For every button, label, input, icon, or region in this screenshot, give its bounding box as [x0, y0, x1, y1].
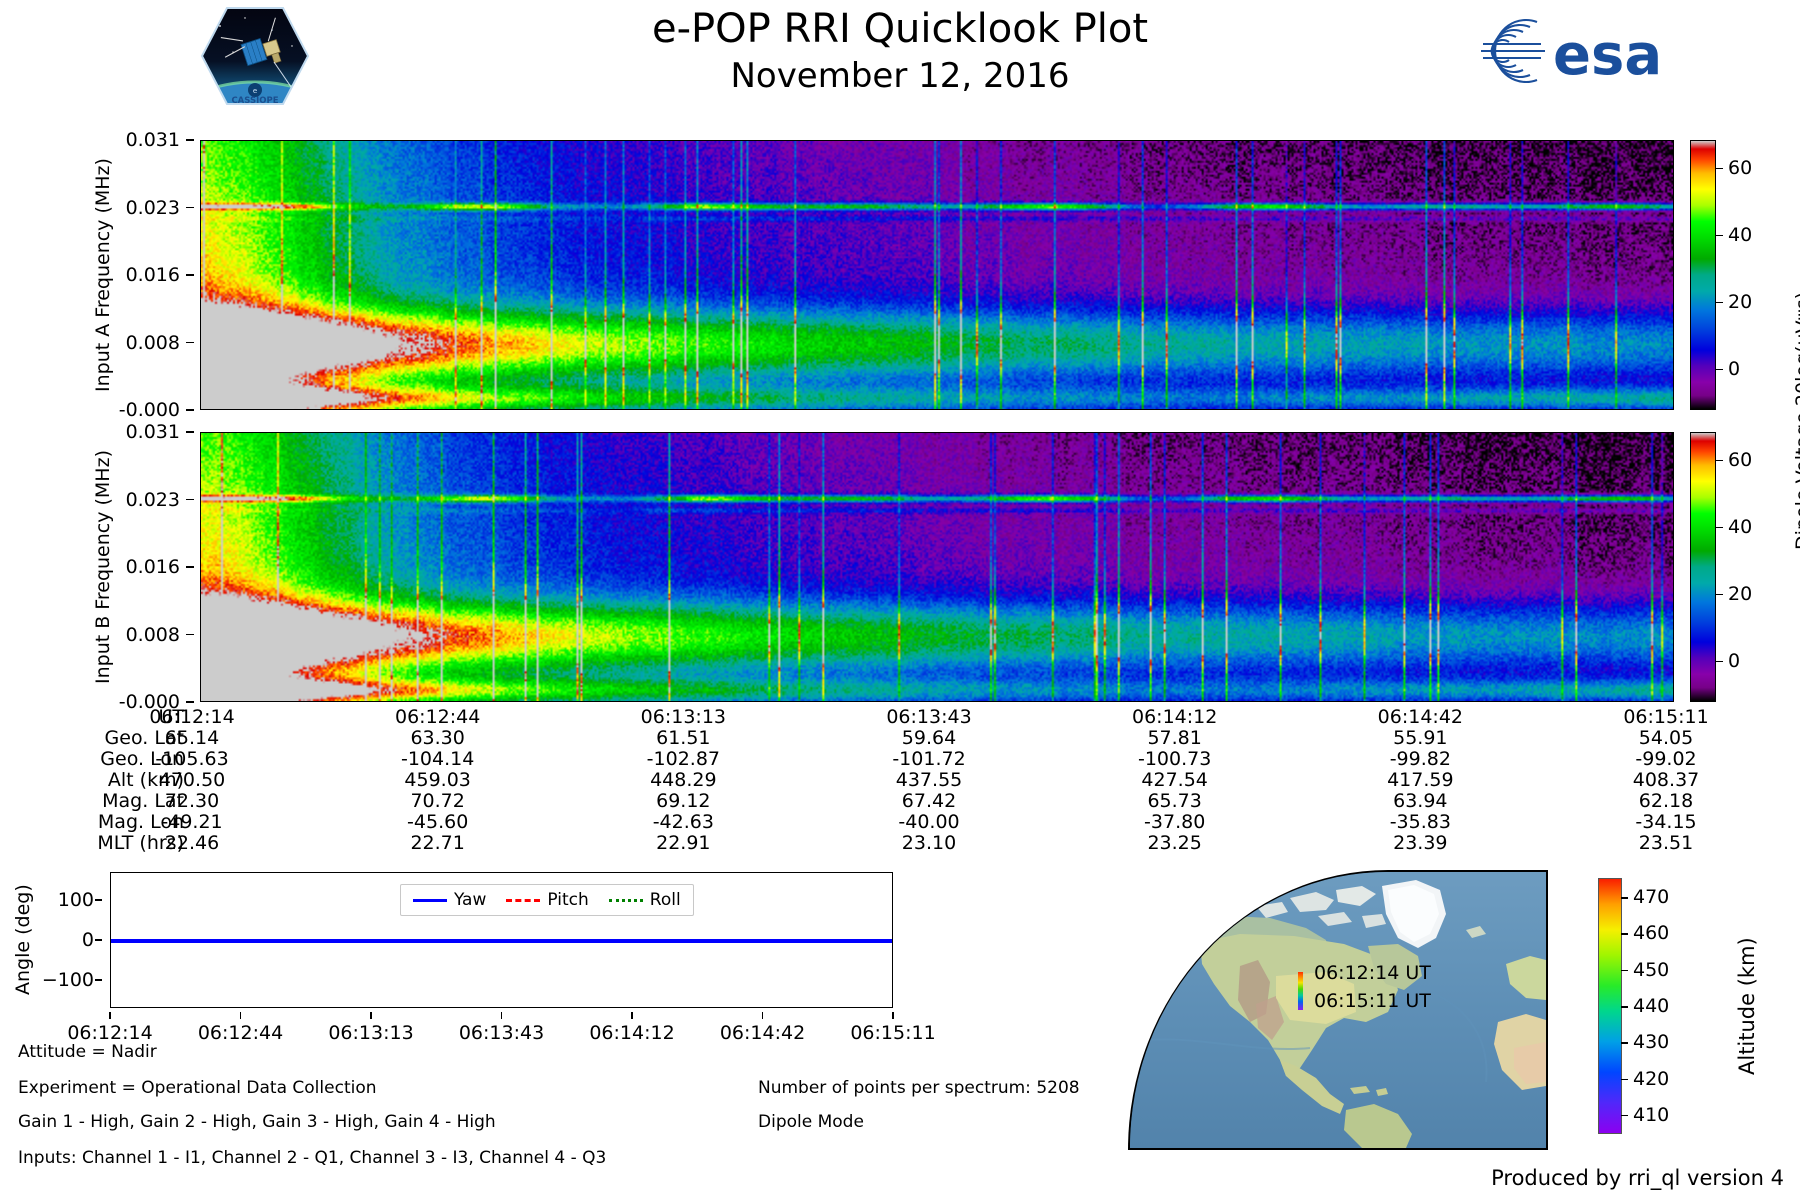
- axis-tickmark: [186, 701, 194, 703]
- table-cell: 06:15:11: [1623, 706, 1708, 728]
- axis-tick-label: 0.008: [126, 624, 180, 646]
- footer-gain: Gain 1 - High, Gain 2 - High, Gain 3 - H…: [18, 1112, 496, 1132]
- legend-entry-roll: Roll: [609, 890, 681, 910]
- axis-tickmark: [186, 409, 194, 411]
- ephemeris-table: UT06:12:1406:12:4406:13:1306:13:4306:14:…: [0, 706, 1690, 853]
- spectrogram-a-image: [201, 141, 1673, 409]
- table-cell: 63.30: [410, 727, 464, 749]
- legend-entry-pitch: Pitch: [506, 890, 588, 910]
- altitude-tickmark: [1621, 1006, 1628, 1008]
- attitude-xticks: 06:12:1406:12:4406:13:1306:13:4306:14:12…: [0, 1012, 1000, 1036]
- attitude-legend: YawPitchRoll: [400, 884, 694, 916]
- colorbar-axis-label: Dipole Voltage 20log(µVᴪs): [1792, 140, 1800, 702]
- axis-tick-label: 0.031: [126, 421, 180, 443]
- table-row-values: 65.1463.3061.5159.6457.8155.9154.05: [192, 727, 1690, 748]
- colorbar-input-a: 6040200: [1690, 140, 1716, 410]
- table-row: UT06:12:1406:12:4406:13:1306:13:4306:14:…: [0, 706, 1690, 727]
- table-cell: 65.14: [165, 727, 219, 749]
- table-cell: 22.91: [656, 832, 710, 854]
- panel-a-yticks: 0.0310.0230.0160.008-0.000: [118, 140, 194, 410]
- attitude-ytickmark: [95, 979, 102, 981]
- table-row-label: Geo. Lat: [0, 727, 192, 749]
- table-cell: -105.63: [155, 748, 228, 770]
- colorbar-b-gradient: [1691, 433, 1715, 701]
- legend-swatch-pitch: [506, 899, 540, 902]
- table-cell: 59.64: [902, 727, 956, 749]
- altitude-tick-label: 420: [1633, 1068, 1669, 1090]
- map-end-time-label: 06:15:11 UT: [1314, 990, 1431, 1012]
- table-row-label: MLT (hrs): [0, 832, 192, 854]
- altitude-colorbar-gradient: [1599, 879, 1621, 1133]
- attitude-yticks: 1000−100: [40, 872, 102, 1008]
- table-cell: 65.73: [1147, 790, 1201, 812]
- colorbar-tick-label: 20: [1728, 291, 1752, 313]
- spectrogram-input-b[interactable]: [200, 432, 1674, 702]
- axis-tickmark: [186, 342, 194, 344]
- table-cell: -40.00: [898, 811, 959, 833]
- axis-tick-label: -0.000: [119, 399, 180, 421]
- attitude-xtickmark: [370, 1012, 372, 1019]
- attitude-xtick-label: 06:12:44: [198, 1022, 283, 1044]
- attitude-xtickmark: [240, 1012, 242, 1019]
- table-row-values: -105.63-104.14-102.87-101.72-100.73-99.8…: [192, 748, 1690, 769]
- axis-tick-label: 0.023: [126, 197, 180, 219]
- table-row-values: -49.21-45.60-42.63-40.00-37.80-35.83-34.…: [192, 811, 1690, 832]
- table-cell: 22.71: [410, 832, 464, 854]
- table-cell: 427.54: [1141, 769, 1207, 791]
- colorbar-tick-label: 0: [1728, 358, 1740, 380]
- table-cell: 22.46: [165, 832, 219, 854]
- colorbar-input-b: 6040200: [1690, 432, 1716, 702]
- colorbar-tickmark: [1715, 168, 1723, 170]
- altitude-tickmark: [1621, 933, 1628, 935]
- colorbar-tickmark: [1715, 527, 1723, 529]
- table-cell: 06:14:42: [1378, 706, 1463, 728]
- table-row-values: 470.50459.03448.29437.55427.54417.59408.…: [192, 769, 1690, 790]
- colorbar-tick-label: 60: [1728, 157, 1752, 179]
- footer-points: Number of points per spectrum: 5208: [758, 1078, 1080, 1098]
- altitude-tick-label: 470: [1633, 886, 1669, 908]
- table-row: Mag. Lat72.3070.7269.1267.4265.7363.9462…: [0, 790, 1690, 811]
- footer-inputs: Inputs: Channel 1 - I1, Channel 2 - Q1, …: [18, 1148, 606, 1168]
- spectrogram-input-a[interactable]: [200, 140, 1674, 410]
- legend-label: Pitch: [547, 890, 588, 910]
- altitude-tick-label: 430: [1633, 1031, 1669, 1053]
- attitude-ytick-label: 0: [82, 929, 94, 951]
- altitude-tick-label: 410: [1633, 1104, 1669, 1126]
- attitude-xtick-label: 06:12:14: [67, 1022, 152, 1044]
- legend-swatch-roll: [609, 899, 643, 902]
- colorbar-tick-label: 20: [1728, 583, 1752, 605]
- altitude-tick-label: 460: [1633, 922, 1669, 944]
- colorbar-tickmark: [1715, 235, 1723, 237]
- table-cell: 55.91: [1393, 727, 1447, 749]
- axis-tickmark: [186, 274, 194, 276]
- panel-b-yticks: 0.0310.0230.0160.008-0.000: [118, 432, 194, 702]
- axis-tickmark: [186, 634, 194, 636]
- colorbar-tickmark: [1715, 661, 1723, 663]
- footer-experiment: Experiment = Operational Data Collection: [18, 1078, 377, 1098]
- table-cell: 448.29: [650, 769, 716, 791]
- esa-logo: esa: [1475, 14, 1715, 88]
- table-cell: 54.05: [1639, 727, 1693, 749]
- panel-b-ylabel: Input B Frequency (MHz): [92, 432, 114, 702]
- legend-label: Yaw: [454, 890, 486, 910]
- altitude-colorbar: 470460450440430420410: [1598, 878, 1622, 1134]
- footer-mode: Dipole Mode: [758, 1112, 864, 1132]
- footer-attitude: Attitude = Nadir: [18, 1042, 157, 1062]
- attitude-ytick-label: 100: [58, 889, 94, 911]
- table-cell: -102.87: [647, 748, 720, 770]
- table-cell: 57.81: [1147, 727, 1201, 749]
- table-cell: 69.12: [656, 790, 710, 812]
- table-cell: -49.21: [161, 811, 222, 833]
- table-row-values: 06:12:1406:12:4406:13:1306:13:4306:14:12…: [192, 706, 1690, 727]
- attitude-ylabel: Angle (deg): [12, 872, 34, 1008]
- axis-tick-label: 0.016: [126, 556, 180, 578]
- table-cell: -42.63: [653, 811, 714, 833]
- axis-tickmark: [186, 139, 194, 141]
- attitude-xtickmark: [762, 1012, 764, 1019]
- altitude-colorbar-label: Altitude (km): [1735, 878, 1759, 1134]
- attitude-ytickmark: [95, 899, 102, 901]
- table-cell: 23.25: [1147, 832, 1201, 854]
- table-cell: -34.15: [1635, 811, 1696, 833]
- axis-tickmark: [186, 431, 194, 433]
- table-cell: 72.30: [165, 790, 219, 812]
- attitude-xtickmark: [501, 1012, 503, 1019]
- axis-tick-label: 0.016: [126, 264, 180, 286]
- table-row: MLT (hrs)22.4622.7122.9123.1023.2523.392…: [0, 832, 1690, 853]
- footer-produced-by: Produced by rri_ql version 4: [1491, 1166, 1784, 1190]
- table-row: Geo. Lat65.1463.3061.5159.6457.8155.9154…: [0, 727, 1690, 748]
- table-cell: -101.72: [892, 748, 965, 770]
- table-row: Geo. Lon-105.63-104.14-102.87-101.72-100…: [0, 748, 1690, 769]
- attitude-xtickmark: [631, 1012, 633, 1019]
- colorbar-tickmark: [1715, 594, 1723, 596]
- attitude-series-yaw: [111, 939, 892, 943]
- table-cell: 470.50: [159, 769, 225, 791]
- table-cell: 06:13:13: [641, 706, 726, 728]
- table-cell: 23.51: [1639, 832, 1693, 854]
- altitude-tickmark: [1621, 897, 1628, 899]
- attitude-xtick-label: 06:14:42: [720, 1022, 805, 1044]
- axis-tickmark: [186, 499, 194, 501]
- table-cell: 06:13:43: [886, 706, 971, 728]
- esa-logo-text: esa: [1553, 23, 1662, 88]
- attitude-xtickmark: [109, 1012, 111, 1019]
- table-cell: -45.60: [407, 811, 468, 833]
- spectrogram-b-image: [201, 433, 1673, 701]
- panel-a-ylabel: Input A Frequency (MHz): [92, 140, 114, 410]
- table-cell: -99.82: [1390, 748, 1451, 770]
- colorbar-tick-label: 60: [1728, 449, 1752, 471]
- altitude-tick-label: 450: [1633, 959, 1669, 981]
- table-row-values: 22.4622.7122.9123.1023.2523.3923.51: [192, 832, 1690, 853]
- table-cell: 06:12:14: [149, 706, 234, 728]
- table-cell: -35.83: [1390, 811, 1451, 833]
- altitude-tickmark: [1621, 1042, 1628, 1044]
- altitude-tickmark: [1621, 1079, 1628, 1081]
- table-cell: 408.37: [1633, 769, 1699, 791]
- table-cell: 23.10: [902, 832, 956, 854]
- attitude-xtick-label: 06:15:11: [850, 1022, 935, 1044]
- colorbar-tick-label: 40: [1728, 516, 1752, 538]
- table-cell: 67.42: [902, 790, 956, 812]
- altitude-tick-label: 440: [1633, 995, 1669, 1017]
- attitude-ytickmark: [95, 939, 102, 941]
- table-cell: -99.02: [1635, 748, 1696, 770]
- legend-swatch-yaw: [413, 899, 447, 902]
- colorbar-a-gradient: [1691, 141, 1715, 409]
- table-cell: 23.39: [1393, 832, 1447, 854]
- attitude-xtickmark: [892, 1012, 894, 1019]
- ground-track-map[interactable]: 06:12:14 UT 06:15:11 UT: [1128, 870, 1548, 1150]
- attitude-ytick-label: −100: [42, 969, 94, 991]
- map-start-time-label: 06:12:14 UT: [1314, 962, 1431, 984]
- table-cell: 06:12:44: [395, 706, 480, 728]
- table-row-values: 72.3070.7269.1267.4265.7363.9462.18: [192, 790, 1690, 811]
- axis-tick-label: 0.031: [126, 129, 180, 151]
- table-cell: -100.73: [1138, 748, 1211, 770]
- table-cell: 417.59: [1387, 769, 1453, 791]
- attitude-xtick-label: 06:14:12: [589, 1022, 674, 1044]
- table-cell: -37.80: [1144, 811, 1205, 833]
- page-header: e CASSIOPE e-POP RRI Quicklook Plot Nove…: [0, 0, 1800, 112]
- table-cell: 62.18: [1639, 790, 1693, 812]
- table-cell: 437.55: [896, 769, 962, 791]
- colorbar-tickmark: [1715, 460, 1723, 462]
- legend-label: Roll: [650, 890, 681, 910]
- axis-tick-label: 0.008: [126, 332, 180, 354]
- colorbar-tickmark: [1715, 302, 1723, 304]
- table-row: Alt (km)470.50459.03448.29437.55427.5441…: [0, 769, 1690, 790]
- table-cell: 63.94: [1393, 790, 1447, 812]
- colorbar-tick-label: 0: [1728, 650, 1740, 672]
- axis-tickmark: [186, 207, 194, 209]
- altitude-tickmark: [1621, 970, 1628, 972]
- colorbar-tick-label: 40: [1728, 224, 1752, 246]
- altitude-tickmark: [1621, 1115, 1628, 1117]
- table-cell: 61.51: [656, 727, 710, 749]
- table-cell: 70.72: [410, 790, 464, 812]
- axis-tick-label: 0.023: [126, 489, 180, 511]
- table-row: Mag. Lon-49.21-45.60-42.63-40.00-37.80-3…: [0, 811, 1690, 832]
- legend-entry-yaw: Yaw: [413, 890, 486, 910]
- table-row-label: Mag. Lat: [0, 790, 192, 812]
- axis-tickmark: [186, 566, 194, 568]
- attitude-xtick-label: 06:13:43: [459, 1022, 544, 1044]
- colorbar-tickmark: [1715, 369, 1723, 371]
- table-cell: 06:14:12: [1132, 706, 1217, 728]
- table-cell: -104.14: [401, 748, 474, 770]
- table-cell: 459.03: [404, 769, 470, 791]
- attitude-xtick-label: 06:13:13: [328, 1022, 413, 1044]
